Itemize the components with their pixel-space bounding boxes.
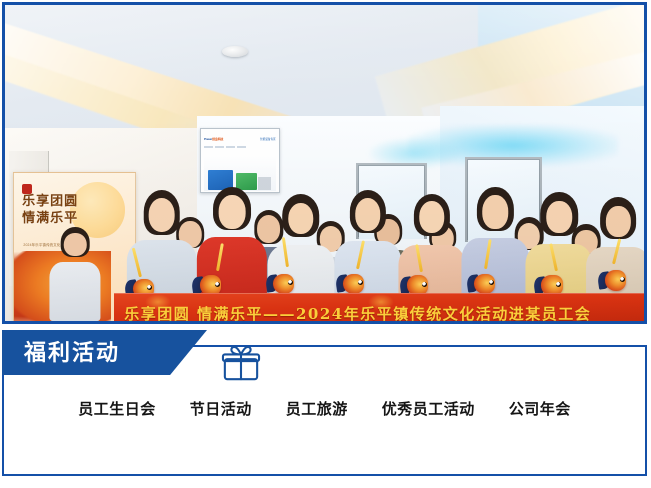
nav-item-holiday[interactable]: 节日活动 [190,398,252,419]
person [50,227,101,321]
display-logo: Power创业科技 [204,137,223,141]
nav-item-annual-meeting[interactable]: 公司年会 [509,398,571,419]
page-root: Power创业科技 智能装备专区 乐享团圆 情满乐平 2024年乐平镇 [0,0,651,488]
gift-icon [220,344,262,382]
welfare-photo-frame: Power创业科技 智能装备专区 乐享团圆 情满乐平 2024年乐平镇 [2,2,647,324]
event-red-banner: 乐享团圆 情满乐平——2024年乐平镇传统文化活动进某员工会 [114,293,644,321]
group-photo: Power创业科技 智能装备专区 乐享团圆 情满乐平 2024年乐平镇 [5,5,644,321]
welfare-nav-list: 员工生日会 节日活动 员工旅游 优秀员工活动 公司年会 [2,398,647,419]
section-title: 福利活动 [24,342,120,364]
fish-lantern [599,269,633,293]
nav-item-birthday[interactable]: 员工生日会 [78,398,156,419]
red-banner-text: 乐享团圆 情满乐平——2024年乐平镇传统文化活动进某员工会 [124,303,591,321]
people-group: 乐享团圆 情满乐平——2024年乐平镇传统文化活动进某员工会 [5,154,644,321]
display-corner-label: 智能装备专区 [260,137,276,141]
nav-item-travel[interactable]: 员工旅游 [286,398,348,419]
nav-item-excellent-employee[interactable]: 优秀员工活动 [382,398,475,419]
